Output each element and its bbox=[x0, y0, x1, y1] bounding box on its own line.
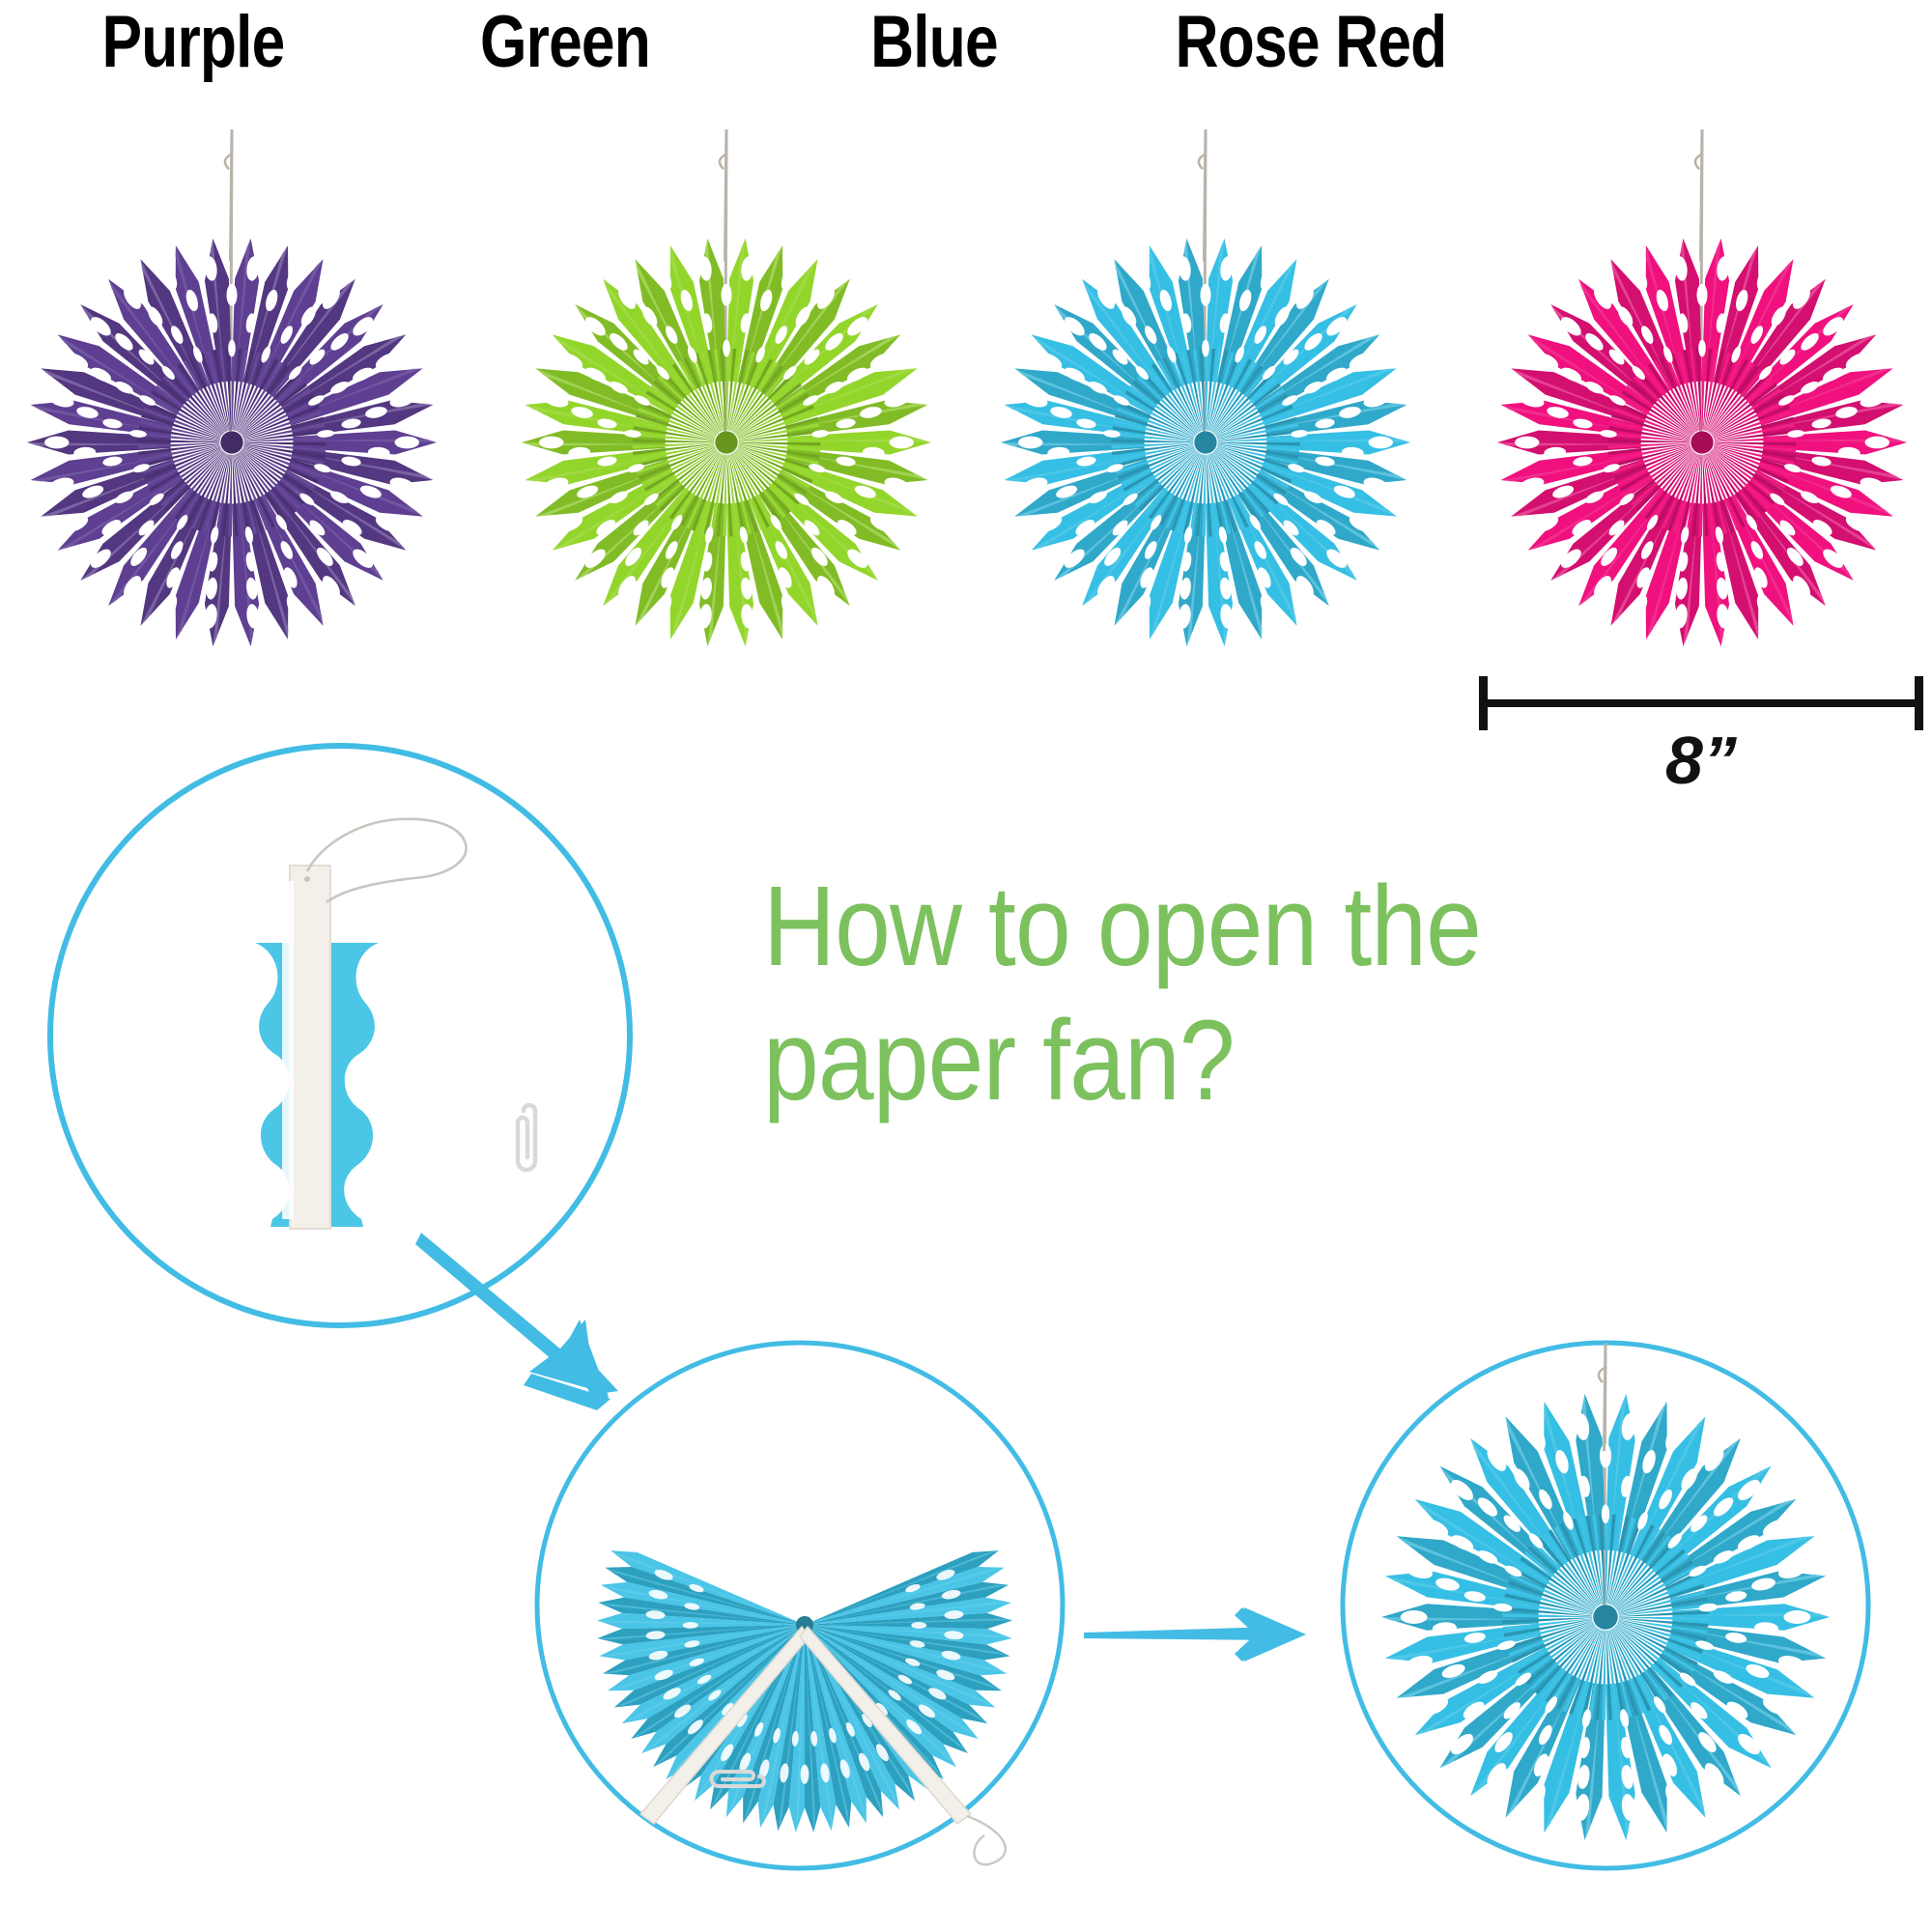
fan-purple bbox=[0, 116, 464, 773]
fan-green bbox=[495, 116, 958, 773]
step-3-fully-open-fan bbox=[1335, 1335, 1876, 1876]
step-2-half-open-fan bbox=[529, 1335, 1070, 1876]
dimension-label: 8” bbox=[1479, 726, 1923, 794]
arrow-icon bbox=[1084, 1607, 1306, 1662]
dimension-ruler: 8” bbox=[1479, 676, 1923, 811]
color-label-purple: Purple bbox=[35, 6, 352, 79]
dimension-cap-right bbox=[1915, 676, 1923, 730]
infographic-canvas: Purple Green Blue Rose Red 8” How to ope… bbox=[0, 0, 1932, 1932]
page-title: How to open the paper fan? bbox=[763, 860, 1886, 1128]
arrow-step2-to-step3 bbox=[1082, 1573, 1323, 1689]
dimension-line bbox=[1479, 699, 1923, 707]
fan-rose-red bbox=[1470, 116, 1932, 773]
color-label-blue: Blue bbox=[776, 6, 1093, 79]
fan-blue bbox=[974, 116, 1437, 773]
color-label-rose-red: Rose Red bbox=[1151, 6, 1470, 79]
color-label-green: Green bbox=[407, 6, 724, 79]
